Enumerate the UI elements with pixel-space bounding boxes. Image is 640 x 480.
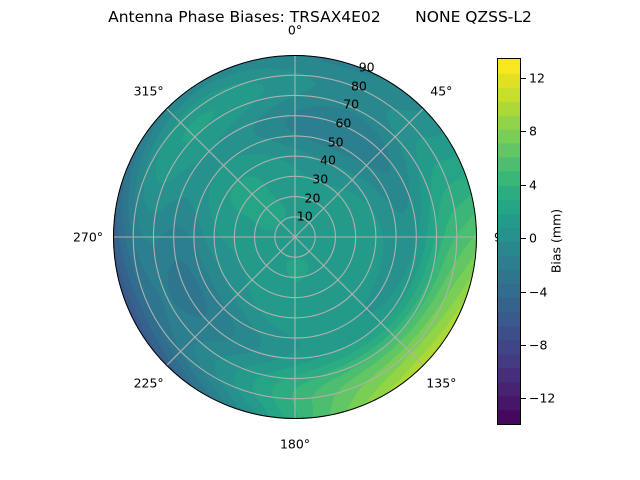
colorbar-tick (521, 345, 526, 346)
colorbar-tick (521, 238, 526, 239)
colorbar-axis-label: Bias (mm) (549, 209, 564, 273)
radial-tick-label-30: 30 (312, 171, 328, 186)
figure-canvas: Antenna Phase Biases: TRSAX4E02 NONE QZS… (0, 0, 640, 480)
colorbar-tick-label: 12 (529, 71, 545, 86)
colorbar-tick-label: −4 (529, 284, 547, 299)
azimuth-tick-label-270: 270° (73, 230, 103, 245)
azimuth-tick-label-315: 315° (134, 83, 164, 98)
polar-axes[interactable] (113, 55, 477, 419)
colorbar-tick (521, 292, 526, 293)
colorbar-tick-label: −8 (529, 337, 547, 352)
colorbar-tick (521, 398, 526, 399)
contour-fill-canvas (113, 55, 477, 419)
colorbar-tick (521, 185, 526, 186)
radial-tick-label-70: 70 (343, 97, 359, 112)
radial-tick-label-60: 60 (335, 115, 351, 130)
colorbar-tick-label: 8 (529, 124, 537, 139)
polar-contour-surface (113, 55, 477, 419)
azimuth-tick-label-45: 45° (430, 83, 452, 98)
azimuth-tick-label-0: 0° (288, 23, 302, 38)
colorbar-tick-label: 0 (529, 231, 537, 246)
azimuth-tick-label-225: 225° (134, 376, 164, 391)
chart-title: Antenna Phase Biases: TRSAX4E02 NONE QZS… (0, 8, 640, 26)
colorbar-tick (521, 78, 526, 79)
azimuth-tick-label-135: 135° (426, 376, 456, 391)
colorbar-gradient (497, 58, 521, 425)
colorbar-tick-label: −12 (529, 391, 555, 406)
colorbar[interactable]: −12−8−404812 (497, 58, 521, 425)
radial-tick-label-10: 10 (297, 209, 313, 224)
colorbar-tick-label: 4 (529, 177, 537, 192)
azimuth-tick-label-180: 180° (280, 437, 310, 452)
radial-tick-label-90: 90 (359, 59, 375, 74)
colorbar-canvas (498, 59, 520, 424)
radial-tick-label-50: 50 (328, 134, 344, 149)
colorbar-tick (521, 131, 526, 132)
radial-tick-label-40: 40 (320, 153, 336, 168)
radial-tick-label-80: 80 (351, 78, 367, 93)
radial-tick-label-20: 20 (305, 190, 321, 205)
